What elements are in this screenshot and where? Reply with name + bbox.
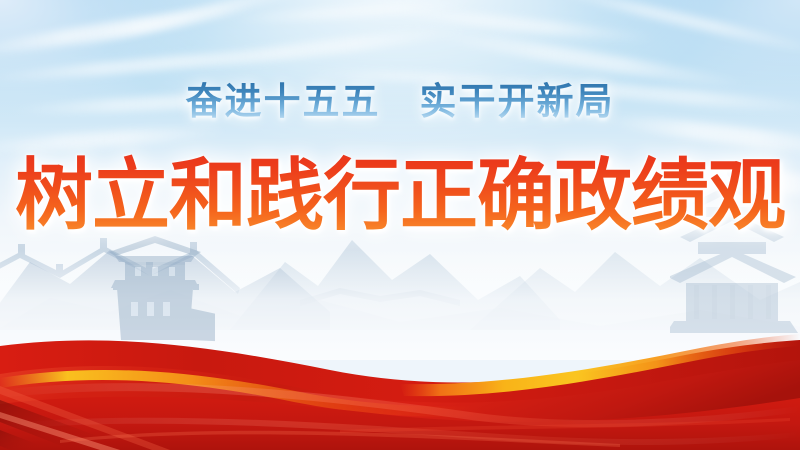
poster-subtitle: 奋进十五五 实干开新局	[0, 78, 800, 126]
poster-canvas: 奋进十五五 实干开新局 树立和践行正确政绩观	[0, 0, 800, 450]
poster-main-title: 树立和践行正确政绩观	[0, 150, 800, 242]
red-ribbon-banner	[0, 330, 800, 450]
